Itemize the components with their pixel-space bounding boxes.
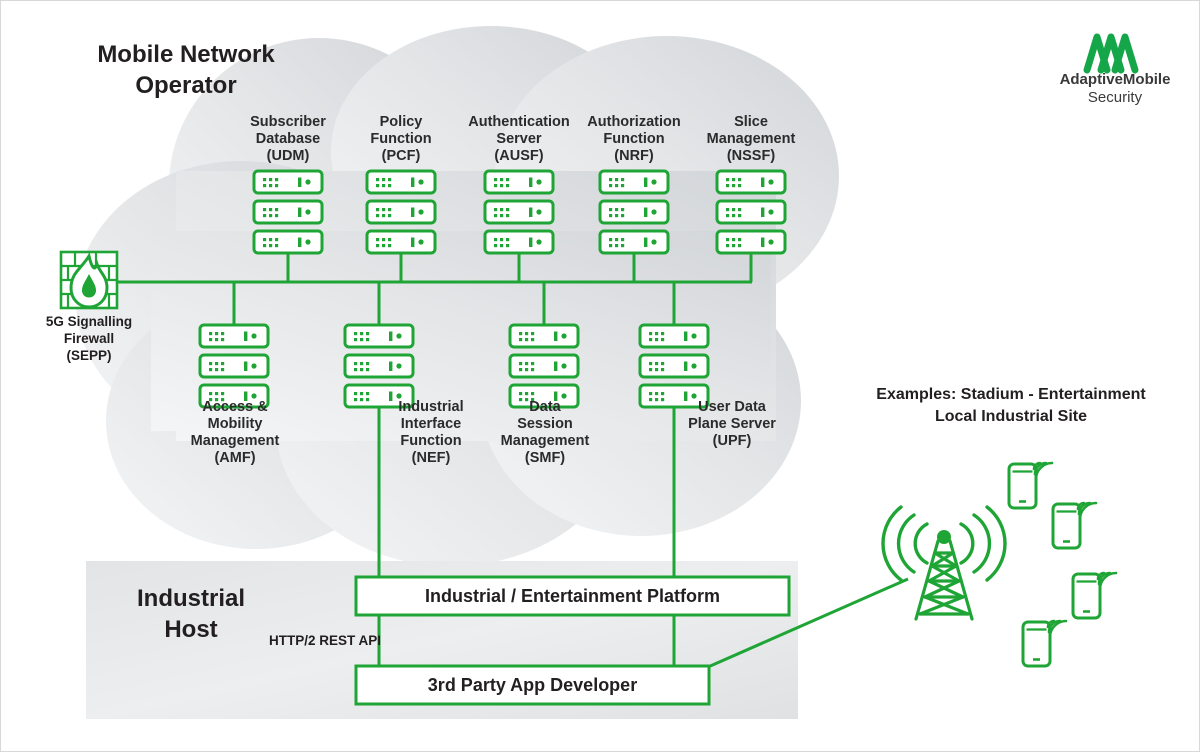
label-pcf: Policy Function (PCF): [344, 114, 458, 165]
examples-label: Examples: Stadium - Entertainment Local …: [846, 384, 1176, 427]
developer-box-label: 3rd Party App Developer: [356, 675, 709, 696]
platform-box-label: Industrial / Entertainment Platform: [356, 586, 789, 607]
logo-text-secondary: Security: [1041, 89, 1189, 106]
http-api-label: HTTP/2 REST API: [269, 633, 429, 649]
label-upf: User Data Plane Server (UPF): [668, 399, 796, 450]
label-smf: Data Session Management (SMF): [479, 399, 611, 467]
label-udm: Subscriber Database (UDM): [223, 114, 353, 165]
label-nssf: Slice Management (NSSF): [689, 114, 813, 165]
logo-text-primary: AdaptiveMobile: [1041, 71, 1189, 88]
diagram-canvas: Mobile Network Operator AdaptiveMobile S…: [0, 0, 1200, 752]
page-title: Mobile Network Operator: [56, 39, 316, 101]
label-nef: Industrial Interface Function (NEF): [373, 399, 489, 467]
label-amf: Access & Mobility Management (AMF): [169, 399, 301, 467]
label-nrf: Authorization Function (NRF): [574, 114, 694, 165]
adaptivemobile-m-logo-icon: [1079, 25, 1149, 75]
label-ausf: Authentication Server (AUSF): [456, 114, 582, 165]
sepp-label: 5G Signalling Firewall (SEPP): [19, 314, 159, 365]
industrial-host-title: Industrial Host: [96, 583, 286, 645]
